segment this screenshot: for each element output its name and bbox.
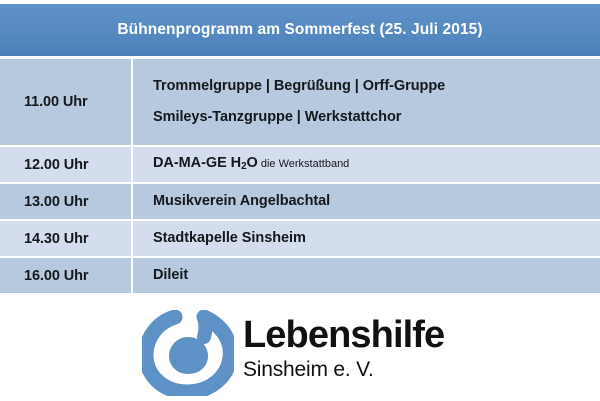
row-program: Stadtkapelle Sinsheim — [133, 221, 600, 256]
logo-subtitle: Sinsheim e. V. — [243, 359, 487, 380]
program-line: Trommelgruppe | Begrüßung | Orff-Gruppe — [153, 79, 600, 94]
page-title: Bühnenprogramm am Sommerfest (25. Juli 2… — [117, 22, 482, 38]
program-line: DA-MA-GE H2O die Werkstattband — [153, 156, 600, 173]
logo-wordmark: Lebenshilfe Sinsheim e. V. — [243, 316, 487, 380]
table-row: 12.00 Uhr DA-MA-GE H2O die Werkstattband — [0, 147, 600, 184]
row-time: 12.00 Uhr — [0, 147, 133, 182]
row-time: 14.30 Uhr — [0, 221, 133, 256]
table-row: 13.00 Uhr Musikverein Angelbachtal — [0, 184, 600, 221]
row-time: 11.00 Uhr — [0, 59, 133, 145]
table-row: 14.30 Uhr Stadtkapelle Sinsheim — [0, 221, 600, 258]
logo-name: Lebenshilfe — [243, 316, 487, 354]
program-line: Stadtkapelle Sinsheim — [153, 231, 600, 246]
program-band-name-part2: O — [247, 155, 258, 171]
row-program: Dileit — [133, 258, 600, 293]
program-line: Smileys-Tanzgruppe | Werkstattchor — [153, 110, 600, 125]
poster-header-band: Bühnenprogramm am Sommerfest (25. Juli 2… — [0, 4, 600, 56]
row-time: 16.00 Uhr — [0, 258, 133, 293]
program-note: die Werkstattband — [258, 158, 350, 170]
program-line: Musikverein Angelbachtal — [153, 194, 600, 209]
program-band-name-part1: DA-MA-GE H — [153, 155, 241, 171]
row-program: Trommelgruppe | Begrüßung | Orff-Gruppe … — [133, 59, 600, 145]
row-time: 13.00 Uhr — [0, 184, 133, 219]
organization-logo: Lebenshilfe Sinsheim e. V. — [142, 308, 487, 396]
poster-root: Bühnenprogramm am Sommerfest (25. Juli 2… — [0, 0, 600, 401]
row-program: DA-MA-GE H2O die Werkstattband — [133, 147, 600, 182]
row-program: Musikverein Angelbachtal — [133, 184, 600, 219]
lebenshilfe-ring-icon — [142, 310, 234, 396]
table-row: 11.00 Uhr Trommelgruppe | Begrüßung | Or… — [0, 59, 600, 147]
schedule-table: 11.00 Uhr Trommelgruppe | Begrüßung | Or… — [0, 58, 600, 294]
program-line: Dileit — [153, 268, 600, 283]
table-row: 16.00 Uhr Dileit — [0, 258, 600, 295]
